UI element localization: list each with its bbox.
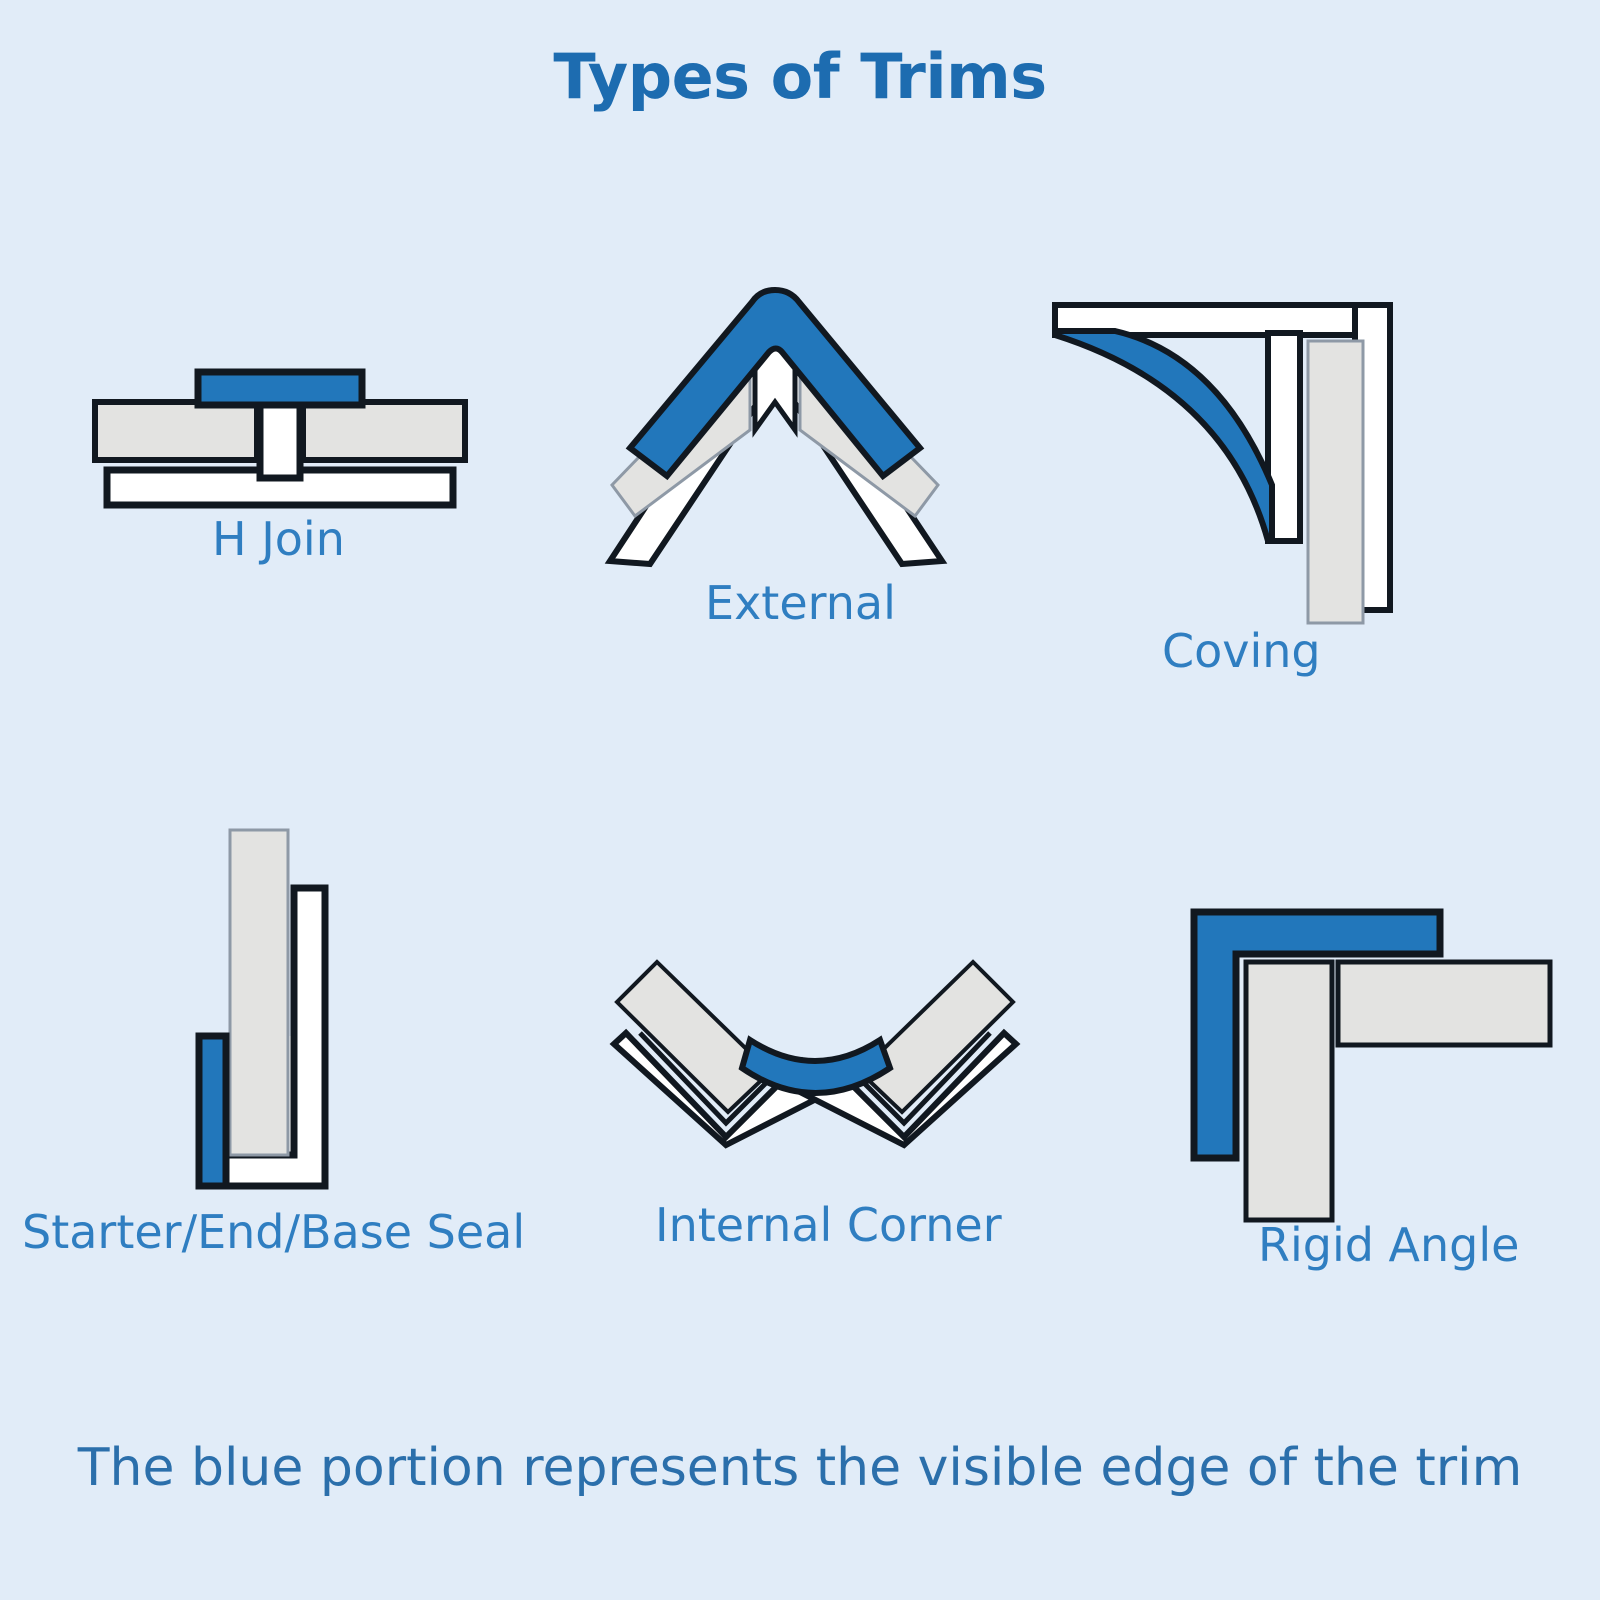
- h-join-panel-left: [95, 402, 257, 460]
- figure-label-external: External: [705, 576, 896, 630]
- h-join-panel-right: [303, 402, 465, 460]
- figure-coving: [1000, 285, 1390, 625]
- figure-rigid-angle: [1150, 870, 1550, 1220]
- figure-h-join: [80, 360, 480, 510]
- rigid-panel-vertical: [1246, 962, 1332, 1220]
- coving-blue-edge: [1055, 331, 1272, 541]
- figure-label-h-join: H Join: [212, 512, 345, 566]
- figure-label-coving: Coving: [1162, 624, 1321, 678]
- starter-panel: [230, 830, 288, 1155]
- figure-starter-end-base-seal: [170, 800, 370, 1200]
- figure-external: [590, 280, 960, 580]
- figure-label-internal-corner: Internal Corner: [655, 1198, 1002, 1252]
- h-join-blue-edge: [198, 372, 362, 405]
- figure-label-rigid-angle: Rigid Angle: [1258, 1218, 1519, 1272]
- rigid-panel-horizontal: [1338, 962, 1550, 1045]
- figure-internal-corner: [580, 930, 1050, 1160]
- starter-blue-edge: [199, 1036, 226, 1186]
- page-title: Types of Trims: [0, 40, 1600, 113]
- figure-label-starter-end-base-seal: Starter/End/Base Seal: [22, 1205, 525, 1259]
- footnote-caption: The blue portion represents the visible …: [0, 1438, 1600, 1498]
- coving-panel: [1308, 341, 1363, 623]
